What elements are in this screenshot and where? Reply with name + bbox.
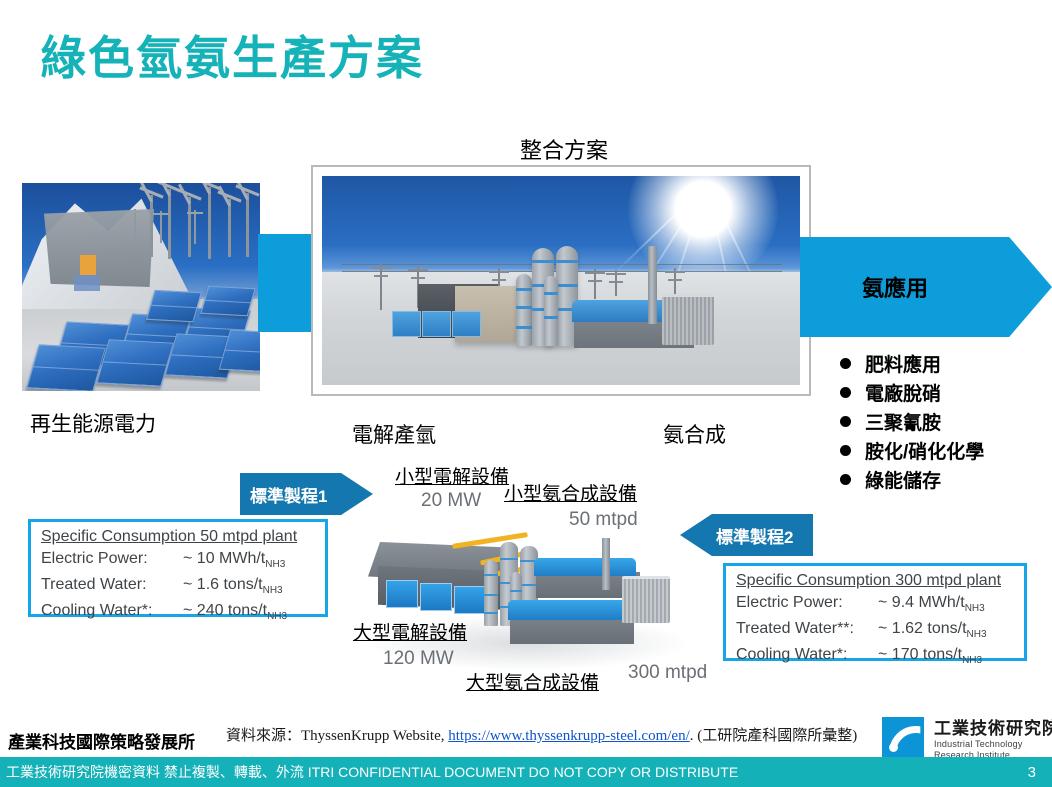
confidential-footer-bar: 工業技術研究院機密資料 禁止複製、轉載、外流 ITRI CONFIDENTIAL…	[0, 757, 1052, 787]
slide-canvas: 綠色氫氨生產方案 整合方案	[0, 0, 1052, 787]
spec-box-300-mtpd: Specific Consumption 300 mtpd plant Elec…	[723, 563, 1027, 661]
pylon-icon	[160, 211, 162, 243]
bullet-icon	[840, 445, 851, 456]
spec-key: Treated Water:	[41, 575, 183, 601]
transmission-tower-icon	[594, 269, 596, 299]
spec-row: Cooling Water*: ~ 240 tons/tNH3	[41, 601, 315, 627]
wind-turbine-icon	[188, 197, 191, 257]
solar-panel-icon	[96, 339, 174, 386]
list-item: 胺化/硝化化學	[840, 436, 1052, 465]
spec-row: Electric Power: ~ 9.4 MWh/tNH3	[736, 593, 1014, 619]
electrolyzer-module-icon	[422, 311, 451, 337]
solar-panel-icon	[146, 290, 202, 323]
spec-box-50-mtpd: Specific Consumption 50 mtpd plant Elect…	[28, 519, 328, 617]
source-prefix: 資料來源：ThyssenKrupp Website,	[226, 728, 448, 744]
department-label: 產業科技國際策略發展所	[8, 728, 195, 753]
spec-box-title: Specific Consumption 50 mtpd plant	[41, 528, 315, 546]
transmission-tower-icon	[615, 270, 617, 296]
transmission-tower-icon	[380, 264, 382, 310]
distillation-column-icon	[516, 274, 532, 346]
page-number: 3	[1028, 764, 1036, 781]
wind-turbine-icon	[150, 195, 153, 257]
spec-value: ~ 9.4 MWh/tNH3	[878, 593, 985, 619]
itri-logo: 工業技術研究院 Industrial Technology Research I…	[882, 714, 1052, 761]
bullet-icon	[840, 387, 851, 398]
renewable-energy-image	[22, 183, 260, 391]
dam-gate-icon	[80, 255, 96, 275]
spec-row: Electric Power: ~ 10 MWh/tNH3	[41, 549, 315, 575]
spec-key: Cooling Water*:	[41, 601, 183, 627]
pylon-icon	[194, 210, 196, 244]
spec-row: Treated Water**: ~ 1.62 tons/tNH3	[736, 619, 1014, 645]
stage-label-ammonia-synthesis: 氨合成	[663, 419, 726, 449]
application-label: 肥料應用	[865, 350, 941, 377]
solar-panel-icon	[26, 344, 106, 391]
equipment-caption-large-electrolysis: 大型電解設備	[353, 618, 467, 645]
chimney-icon	[648, 246, 657, 324]
process-chevron-2-label: 標準製程2	[716, 523, 793, 548]
spec-row: Cooling Water*: ~ 170 tons/tNH3	[736, 645, 1014, 671]
spec-value: ~ 1.6 tons/tNH3	[183, 575, 283, 601]
solar-panel-icon	[200, 286, 255, 317]
electrolyzer-cell-icon	[420, 583, 452, 611]
electrolyzer-module-icon	[452, 311, 481, 337]
application-label: 三聚氰胺	[865, 408, 941, 435]
page-title: 綠色氫氨生產方案	[40, 22, 424, 88]
itri-name-english-line1: Industrial Technology	[934, 739, 1052, 750]
spec-value: ~ 10 MWh/tNH3	[183, 549, 285, 575]
equipment-value-large-ammonia: 300 mtpd	[628, 662, 707, 684]
wind-turbine-icon	[168, 189, 171, 259]
process-chevron-1: 標準製程1	[240, 473, 373, 515]
applications-list: 肥料應用 電廠脫硝 三聚氰胺 胺化/硝化化學 綠能儲存	[840, 349, 1052, 494]
ammonia-application-arrow: 氨應用	[800, 237, 1052, 337]
integrated-solution-label: 整合方案	[520, 133, 608, 165]
electrolyzer-cell-icon	[386, 580, 418, 608]
source-citation: 資料來源：ThyssenKrupp Website, https://www.t…	[226, 724, 857, 745]
storage-tank-icon	[662, 294, 714, 345]
spec-key: Electric Power:	[736, 593, 878, 619]
list-item: 肥料應用	[840, 349, 1052, 378]
electrolyzer-cell-icon	[454, 586, 486, 614]
storage-tank-icon	[622, 576, 670, 623]
list-item: 三聚氰胺	[840, 407, 1052, 436]
ammonia-reactor-top-icon	[508, 600, 628, 620]
bullet-icon	[840, 416, 851, 427]
wind-turbine-icon	[208, 187, 211, 259]
spec-value: ~ 170 tons/tNH3	[878, 645, 982, 671]
spec-key: Treated Water**:	[736, 619, 878, 645]
spec-value: ~ 240 tons/tNH3	[183, 601, 287, 627]
bullet-icon	[840, 358, 851, 369]
equipment-caption-small-electrolysis: 小型電解設備	[395, 462, 509, 489]
application-label: 電廠脫硝	[865, 379, 941, 406]
itri-name-chinese: 工業技術研究院	[934, 714, 1052, 739]
application-label: 胺化/硝化化學	[865, 437, 984, 464]
distillation-column-icon	[544, 276, 558, 346]
dam-water-icon	[74, 275, 100, 291]
spec-box-title: Specific Consumption 300 mtpd plant	[736, 572, 1014, 590]
integrated-plant-image	[322, 176, 800, 385]
wind-turbine-icon	[246, 193, 249, 257]
equipment-value-small-ammonia: 50 mtpd	[569, 509, 638, 531]
process-chevron-1-label: 標準製程1	[250, 482, 327, 507]
chimney-icon	[602, 538, 610, 590]
ammonia-reactor-top-icon	[534, 558, 636, 576]
pylon-icon	[134, 209, 136, 245]
spec-value: ~ 1.62 tons/tNH3	[878, 619, 987, 645]
confidential-notice: 工業技術研究院機密資料 禁止複製、轉載、外流 ITRI CONFIDENTIAL…	[6, 762, 738, 782]
itri-logo-text: 工業技術研究院 Industrial Technology Research I…	[934, 714, 1052, 761]
spec-key: Cooling Water*:	[736, 645, 878, 671]
ammonia-application-label: 氨應用	[862, 271, 928, 303]
column-icon	[484, 560, 498, 626]
source-suffix: . (工研院產科國際所彙整)	[690, 728, 858, 744]
source-link[interactable]: https://www.thyssenkrupp-steel.com/en/	[448, 728, 690, 744]
equipment-caption-small-ammonia: 小型氨合成設備	[504, 479, 637, 506]
equipment-value-small-electrolysis: 20 MW	[421, 490, 481, 512]
application-label: 綠能儲存	[865, 466, 941, 493]
itri-logo-icon	[882, 717, 924, 759]
equipment-caption-large-ammonia: 大型氨合成設備	[466, 668, 599, 695]
stage-label-renewable: 再生能源電力	[30, 408, 156, 438]
bullet-icon	[840, 474, 851, 485]
list-item: 綠能儲存	[840, 465, 1052, 494]
stage-label-electrolysis: 電解產氫	[352, 419, 436, 449]
wind-turbine-icon	[228, 199, 231, 257]
spec-row: Treated Water: ~ 1.6 tons/tNH3	[41, 575, 315, 601]
equipment-value-large-electrolysis: 120 MW	[383, 648, 454, 670]
spec-key: Electric Power:	[41, 549, 183, 575]
ammonia-reactor-icon	[510, 616, 634, 644]
electrolyzer-module-icon	[392, 311, 421, 337]
list-item: 電廠脫硝	[840, 378, 1052, 407]
